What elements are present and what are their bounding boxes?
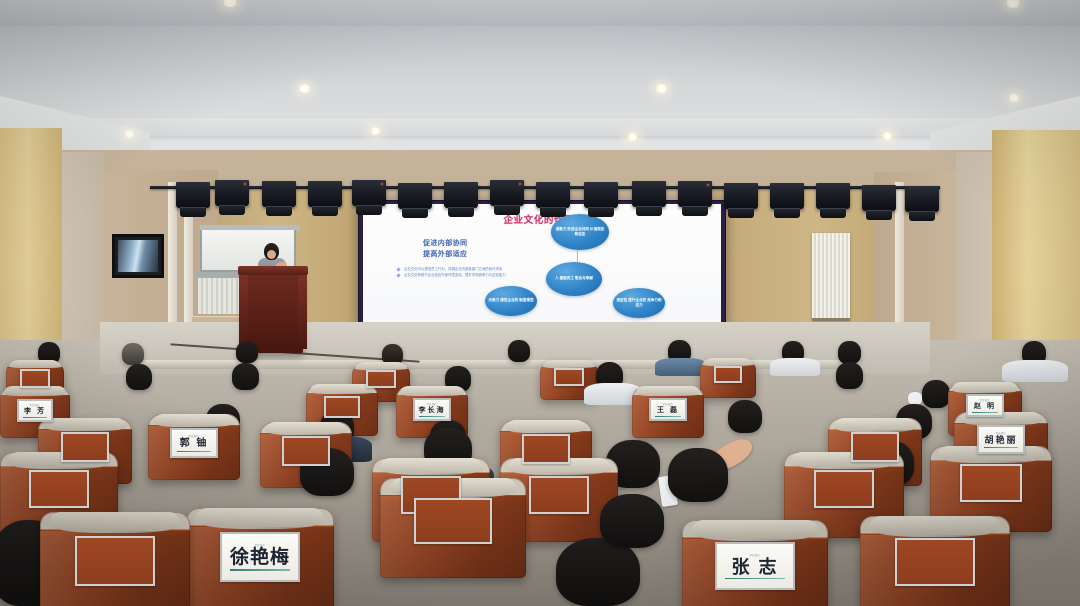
stage-light xyxy=(905,186,939,212)
stage-light xyxy=(724,183,758,209)
nameplate-header: 学员席位 xyxy=(663,402,673,406)
seat[interactable]: 学员席位 王 磊 xyxy=(632,386,704,438)
audience-head xyxy=(122,343,144,365)
seat[interactable]: 学员席位 郭 铀 xyxy=(148,414,240,480)
auditorium-scene: 企业文化的作用? 促进内部协同 提高外部适应 企业文化可以规范员工行为，协调企业… xyxy=(0,0,1080,606)
nameplate-header: 学员席位 xyxy=(427,402,437,406)
nameplate: 学员席位 胡艳丽 xyxy=(977,425,1025,454)
stage-light xyxy=(308,181,342,207)
nameplate: 学员席位 李长海 xyxy=(413,398,451,421)
nameplate xyxy=(29,470,89,508)
ceiling-downlight xyxy=(298,84,311,93)
seat[interactable] xyxy=(700,358,756,398)
audience-head xyxy=(922,380,950,408)
stage-light xyxy=(770,183,804,209)
ceiling-downlight xyxy=(124,130,135,138)
nameplate-header: 学员席位 xyxy=(980,398,990,402)
stage-light xyxy=(816,183,850,209)
audience-head xyxy=(728,400,762,433)
stage-light xyxy=(584,182,618,208)
nameplate xyxy=(75,536,155,586)
seat[interactable]: 学员席位 徐艳梅 xyxy=(186,508,334,606)
nameplate: 学员席位 张 志 xyxy=(715,542,795,590)
nameplate xyxy=(960,464,1022,502)
wall-mounted-monitor xyxy=(112,234,164,278)
nameplate xyxy=(851,432,899,462)
nameplate xyxy=(529,476,589,514)
nameplate: 学员席位 王 磊 xyxy=(649,398,687,421)
nameplate-header: 学员席位 xyxy=(255,543,265,547)
seat[interactable]: 学员席位 张 志 xyxy=(682,520,828,606)
presenter-face xyxy=(267,250,276,259)
stage-light xyxy=(215,180,249,206)
stage-light xyxy=(862,185,896,211)
stage-light xyxy=(490,180,524,206)
diagram-bubble-left: 约束力 规范企业的 制度规范 xyxy=(485,286,537,316)
audience-shoulders xyxy=(1002,360,1068,382)
nameplate: 学员席位 赵 明 xyxy=(966,394,1004,417)
audience-head xyxy=(126,364,152,390)
audience-head xyxy=(236,341,258,363)
nameplate xyxy=(414,498,492,544)
audience-head xyxy=(232,363,259,390)
nameplate xyxy=(61,432,109,462)
stage-light xyxy=(352,180,386,206)
nameplate-name: 徐艳梅 xyxy=(230,548,290,567)
nameplate xyxy=(20,369,50,388)
stage-light xyxy=(536,182,570,208)
diagram-connector xyxy=(577,249,578,263)
nameplate-header: 学员席位 xyxy=(750,553,760,557)
diagram-bubble-right: 适应性 提升企业的 竞争力和活力 xyxy=(613,288,665,318)
diagram-bubble-center: 人 激励员工 敬业与奉献 xyxy=(546,262,602,296)
nameplate-name: 李长海 xyxy=(419,407,446,414)
slide-subtitle: 促进内部协同 提高外部适应 xyxy=(423,238,467,260)
nameplate-name: 张 志 xyxy=(731,558,778,576)
nameplate: 学员席位 郭 铀 xyxy=(170,428,218,458)
stage-light xyxy=(632,181,666,207)
seat[interactable] xyxy=(860,516,1010,606)
nameplate-name: 胡艳丽 xyxy=(984,436,1017,445)
nameplate xyxy=(282,436,330,466)
nameplate-name: 李 芳 xyxy=(24,408,46,415)
ceiling-downlight xyxy=(370,127,381,135)
audience-head xyxy=(838,341,861,364)
ceiling-downlight xyxy=(882,132,893,140)
podium xyxy=(243,271,303,353)
ceiling-downlight xyxy=(1008,94,1020,102)
slide-canvas: 企业文化的作用? 促进内部协同 提高外部适应 企业文化可以规范员工行为，协调企业… xyxy=(363,204,721,324)
stage-light xyxy=(398,183,432,209)
nameplate-name: 赵 明 xyxy=(974,403,996,410)
ceiling-downlight xyxy=(655,84,668,93)
nameplate xyxy=(366,370,396,388)
audience-head xyxy=(836,362,863,389)
audience-head xyxy=(508,340,530,362)
nameplate: 学员席位 李 芳 xyxy=(17,399,53,422)
seat[interactable] xyxy=(40,512,190,606)
stage-light xyxy=(262,181,296,207)
led-presentation-screen[interactable]: 企业文化的作用? 促进内部协同 提高外部适应 企业文化可以规范员工行为，协调企业… xyxy=(358,200,726,328)
audience-head xyxy=(600,494,664,548)
stage-light xyxy=(176,182,210,208)
nameplate-header: 学员席位 xyxy=(30,403,40,407)
nameplate xyxy=(522,434,570,464)
nameplate xyxy=(324,396,360,418)
slide-subtitle-line: 提高外部适应 xyxy=(423,249,467,260)
ceiling-downlight xyxy=(627,133,638,141)
nameplate: 学员席位 徐艳梅 xyxy=(220,532,300,582)
wall-radiator xyxy=(812,233,850,321)
slide-subtitle-line: 促进内部协同 xyxy=(423,238,467,249)
stage-light xyxy=(678,181,712,207)
nameplate xyxy=(554,368,584,386)
audience-head xyxy=(668,448,728,502)
audience-head xyxy=(556,538,640,606)
nameplate-header: 学员席位 xyxy=(189,434,199,438)
nameplate xyxy=(714,366,742,383)
audience-shoulders xyxy=(770,358,820,376)
nameplate-name: 郭 铀 xyxy=(180,439,209,449)
nameplate xyxy=(895,538,975,586)
stage-light xyxy=(444,182,478,208)
diagram-bubble-top: 凝聚力 形成企业共同 价值观念 和信念 xyxy=(551,214,609,250)
nameplate xyxy=(814,470,874,508)
nameplate-name: 王 磊 xyxy=(657,407,679,414)
nameplate-header: 学员席位 xyxy=(996,431,1006,435)
